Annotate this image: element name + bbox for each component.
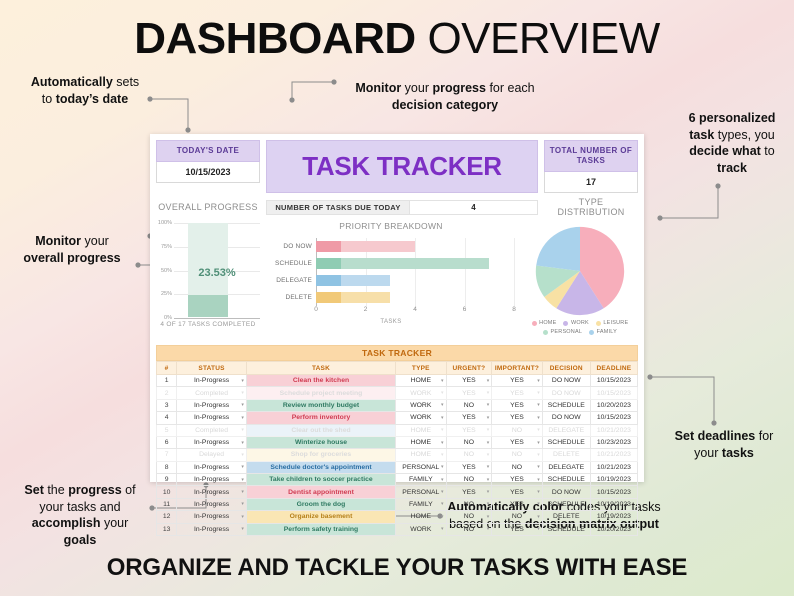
spreadsheet-dashboard: TODAY'S DATE 10/15/2023 TASK TRACKER TOT… [150, 134, 644, 482]
task-deadline-cell[interactable]: 10/15/2023 [590, 486, 637, 498]
pie-legend-swatch [563, 321, 568, 326]
task-decision-cell: DELETE [542, 449, 590, 461]
task-urgent-select[interactable]: NO [446, 436, 492, 448]
task-table-row[interactable]: 3In-ProgressReview monthly budgetWORKNOY… [157, 399, 638, 411]
task-type-select[interactable]: WORK [396, 523, 447, 535]
overall-progress-chart: 100%75%50%25%0% 23.53% 4 OF 17 TASKS COM… [156, 219, 260, 343]
task-important-select[interactable]: NO [492, 511, 543, 523]
progress-caption: 4 OF 17 TASKS COMPLETED [156, 321, 260, 328]
dashboard-subheader-row: OVERALL PROGRESS NUMBER OF TASKS DUE TOD… [150, 193, 644, 217]
task-table-header-cell: STATUS [177, 362, 247, 375]
priority-bar-cap [316, 292, 341, 303]
task-deadline-cell[interactable]: 10/21/2023 [590, 449, 637, 461]
progress-y-tick: 25% [161, 291, 172, 297]
task-table-row[interactable]: 7DelayedShop for groceriesHOMENONODELETE… [157, 449, 638, 461]
task-table-row[interactable]: 5CompletedClear out the shedHOMEYESNODEL… [157, 424, 638, 436]
pie-legend-item: PERSONAL [543, 329, 582, 335]
task-important-select[interactable]: NO [492, 461, 543, 473]
progress-plot: 100%75%50%25%0% 23.53% [156, 223, 260, 318]
task-type-select[interactable]: PERSONAL [396, 486, 447, 498]
task-status-select[interactable]: In-Progress [177, 436, 247, 448]
task-table-header-cell: TYPE [396, 362, 447, 375]
task-type-select[interactable]: FAMILY [396, 498, 447, 510]
task-urgent-select[interactable]: NO [446, 399, 492, 411]
task-name-cell[interactable]: Winterize house [246, 436, 395, 448]
task-name-cell[interactable]: Take children to soccer practice [246, 474, 395, 486]
priority-bar-label: SCHEDULE [264, 260, 316, 267]
task-urgent-select[interactable]: YES [446, 412, 492, 424]
priority-x-tick: 6 [463, 306, 467, 313]
pie-legend-label: PERSONAL [551, 329, 583, 335]
priority-x-ticks: 02468 [316, 306, 514, 316]
task-important-select[interactable]: YES [492, 375, 543, 387]
progress-y-tick: 75% [161, 244, 172, 250]
pie-legend-swatch [532, 321, 537, 326]
priority-bar-cap [316, 275, 341, 286]
task-tracker-title-card: TASK TRACKER [266, 140, 538, 193]
task-name-cell[interactable]: Groom the dog [246, 498, 395, 510]
task-deadline-cell[interactable]: 10/19/2023 [590, 498, 637, 510]
annotation-overall: Monitor your overall progress [16, 233, 128, 266]
task-deadline-cell[interactable]: 10/20/2023 [590, 523, 637, 535]
task-table-header-cell: URGENT? [446, 362, 492, 375]
task-table: #STATUSTASKTYPEURGENT?IMPORTANT?DECISION… [156, 361, 638, 536]
task-deadline-cell[interactable]: 10/21/2023 [590, 461, 637, 473]
annotation-today-date: Automatically sets to today’s date [26, 74, 144, 107]
task-important-select[interactable]: YES [492, 523, 543, 535]
task-row-number: 7 [157, 449, 177, 461]
task-table-row[interactable]: 8In-ProgressSchedule doctor's appointmen… [157, 461, 638, 473]
task-decision-cell: DO NOW [542, 412, 590, 424]
task-decision-cell: DELEGATE [542, 424, 590, 436]
task-row-number: 6 [157, 436, 177, 448]
todays-date-value[interactable]: 10/15/2023 [156, 162, 260, 183]
task-row-number: 3 [157, 399, 177, 411]
task-type-select[interactable]: WORK [396, 399, 447, 411]
pie-slice [536, 227, 580, 271]
task-deadline-cell[interactable]: 10/15/2023 [590, 375, 637, 387]
progress-percent-label: 23.53% [174, 267, 260, 279]
task-table-band: TASK TRACKER [156, 345, 638, 361]
task-important-select[interactable]: YES [492, 412, 543, 424]
page-title-bold: DASHBOARD [134, 14, 416, 63]
priority-bar-row: DO NOW [264, 238, 514, 255]
pie-legend-item: WORK [563, 320, 588, 326]
priority-bars: DO NOWSCHEDULEDELEGATEDELETE [264, 238, 514, 306]
task-table-header-cell: DEADLINE [590, 362, 637, 375]
task-status-select[interactable]: In-Progress [177, 523, 247, 535]
priority-bar-track [316, 258, 514, 269]
priority-bar-row: SCHEDULE [264, 255, 514, 272]
task-urgent-select[interactable]: NO [446, 449, 492, 461]
todays-date-label: TODAY'S DATE [156, 140, 260, 162]
progress-bar-fill [188, 295, 228, 317]
overall-progress-label: OVERALL PROGRESS [156, 202, 260, 212]
annotation-task-types: 6 personalized task types, you decide wh… [676, 110, 788, 176]
priority-x-tick: 8 [512, 306, 516, 313]
task-type-select[interactable]: HOME [396, 375, 447, 387]
task-urgent-select[interactable]: NO [446, 474, 492, 486]
pie-legend-swatch [543, 330, 548, 335]
task-row-number: 10 [157, 486, 177, 498]
task-important-select[interactable]: YES [492, 486, 543, 498]
task-urgent-select[interactable]: NO [446, 498, 492, 510]
task-row-number: 11 [157, 498, 177, 510]
pie-legend-item: HOME [532, 320, 557, 326]
pie-legend-swatch [596, 321, 601, 326]
task-table-header-cell: IMPORTANT? [492, 362, 543, 375]
task-table-row[interactable]: 9In-ProgressTake children to soccer prac… [157, 474, 638, 486]
task-deadline-cell[interactable]: 10/19/2023 [590, 511, 637, 523]
task-row-number: 8 [157, 461, 177, 473]
task-status-select[interactable]: In-Progress [177, 474, 247, 486]
priority-x-tick: 4 [413, 306, 417, 313]
task-urgent-select[interactable]: YES [446, 375, 492, 387]
page-title: DASHBOARD OVERVIEW [0, 14, 794, 64]
task-row-number: 12 [157, 511, 177, 523]
pie-legend-label: WORK [571, 320, 589, 326]
task-status-select[interactable]: Delayed [177, 449, 247, 461]
progress-y-tick: 0% [164, 315, 172, 321]
task-decision-cell: SCHEDULE [542, 399, 590, 411]
task-status-select[interactable]: In-Progress [177, 498, 247, 510]
task-table-wrap: TASK TRACKER #STATUSTASKTYPEURGENT?IMPOR… [150, 343, 644, 542]
todays-date-card: TODAY'S DATE 10/15/2023 [156, 140, 260, 193]
task-status-select[interactable]: In-Progress [177, 375, 247, 387]
task-status-select[interactable]: Completed [177, 424, 247, 436]
task-name-cell[interactable]: Schedule project meeting [246, 387, 395, 399]
task-type-select[interactable]: HOME [396, 436, 447, 448]
priority-bar-track [316, 292, 514, 303]
priority-bar-label: DELEGATE [264, 277, 316, 284]
task-decision-cell: DO NOW [542, 387, 590, 399]
task-deadline-cell[interactable]: 10/15/2023 [590, 412, 637, 424]
task-status-select[interactable]: In-Progress [177, 461, 247, 473]
task-type-select[interactable]: PERSONAL [396, 461, 447, 473]
task-table-header-cell: DECISION [542, 362, 590, 375]
task-table-header-cell: TASK [246, 362, 395, 375]
task-name-cell[interactable]: Clear out the shed [246, 424, 395, 436]
task-table-row[interactable]: 1In-ProgressClean the kitchenHOMEYESYESD… [157, 375, 638, 387]
priority-bar-fill [316, 258, 489, 269]
task-status-select[interactable]: In-Progress [177, 511, 247, 523]
type-distribution-chart: HOMEWORKLEISUREPERSONALFAMILY [522, 219, 638, 343]
priority-bar-row: DELEGATE [264, 272, 514, 289]
task-table-row[interactable]: 11In-ProgressGroom the dogFAMILYNOYESSCH… [157, 498, 638, 510]
task-important-select[interactable]: YES [492, 399, 543, 411]
task-row-number: 4 [157, 412, 177, 424]
priority-chart-title: PRIORITY BREAKDOWN [264, 221, 518, 231]
task-table-body: 1In-ProgressClean the kitchenHOMEYESYESD… [157, 375, 638, 536]
task-deadline-cell[interactable]: 10/21/2023 [590, 424, 637, 436]
task-name-cell[interactable]: Clean the kitchen [246, 375, 395, 387]
pie-wrap [522, 225, 638, 317]
pie-legend-item: LEISURE [596, 320, 628, 326]
progress-y-axis: 100%75%50%25%0% [156, 223, 174, 318]
task-type-select[interactable]: HOME [396, 511, 447, 523]
task-decision-cell: SCHEDULE [542, 523, 590, 535]
task-decision-cell: DELEGATE [542, 461, 590, 473]
task-type-select[interactable]: WORK [396, 387, 447, 399]
tasks-due-today-label: NUMBER OF TASKS DUE TODAY [266, 200, 410, 215]
task-deadline-cell[interactable]: 10/20/2023 [590, 399, 637, 411]
pie-legend-label: HOME [539, 320, 556, 326]
pie-legend-label: LEISURE [603, 320, 628, 326]
task-name-cell[interactable]: Perform safety training [246, 523, 395, 535]
task-decision-cell: SCHEDULE [542, 436, 590, 448]
task-name-cell[interactable]: Review monthly budget [246, 399, 395, 411]
task-status-select[interactable]: In-Progress [177, 412, 247, 424]
task-row-number: 2 [157, 387, 177, 399]
task-urgent-select[interactable]: YES [446, 461, 492, 473]
pie-legend-swatch [589, 330, 594, 335]
task-urgent-select[interactable]: YES [446, 486, 492, 498]
task-deadline-cell[interactable]: 10/23/2023 [590, 436, 637, 448]
task-type-select[interactable]: HOME [396, 424, 447, 436]
task-table-row[interactable]: 10In-ProgressDentist appointmentPERSONAL… [157, 486, 638, 498]
total-tasks-card: TOTAL NUMBER OF TASKS 17 [544, 140, 638, 193]
task-table-row[interactable]: 12In-ProgressOrganize basementHOMENONODE… [157, 511, 638, 523]
task-table-header-cell: # [157, 362, 177, 375]
task-important-select[interactable]: NO [492, 449, 543, 461]
task-deadline-cell[interactable]: 10/19/2023 [590, 474, 637, 486]
task-decision-cell: SCHEDULE [542, 474, 590, 486]
task-type-select[interactable]: FAMILY [396, 474, 447, 486]
task-name-cell[interactable]: Organize basement [246, 511, 395, 523]
task-row-number: 13 [157, 523, 177, 535]
task-important-select[interactable]: YES [492, 387, 543, 399]
priority-bar-row: DELETE [264, 289, 514, 306]
priority-bar-cap [316, 241, 341, 252]
task-important-select[interactable]: NO [492, 424, 543, 436]
type-distribution-label: TYPE DISTRIBUTION [544, 197, 638, 217]
pie-legend-item: FAMILY [589, 329, 617, 335]
priority-x-tick: 2 [364, 306, 368, 313]
page-footer: ORGANIZE AND TACKLE YOUR TASKS WITH EASE [0, 554, 794, 582]
task-name-cell[interactable]: Schedule doctor's appointment [246, 461, 395, 473]
task-status-select[interactable]: In-Progress [177, 486, 247, 498]
task-tracker-title: TASK TRACKER [302, 151, 502, 182]
progress-y-tick: 100% [158, 220, 172, 226]
priority-bar-track [316, 275, 514, 286]
task-urgent-select[interactable]: NO [446, 523, 492, 535]
task-name-cell[interactable]: Dentist appointment [246, 486, 395, 498]
annotation-priority: Monitor your progress for each decision … [330, 80, 560, 113]
priority-plot: DO NOWSCHEDULEDELEGATEDELETE 02468 [264, 234, 518, 320]
task-deadline-cell[interactable]: 10/15/2023 [590, 387, 637, 399]
task-urgent-select[interactable]: NO [446, 511, 492, 523]
task-row-number: 9 [157, 474, 177, 486]
dashboard-header-row: TODAY'S DATE 10/15/2023 TASK TRACKER TOT… [150, 134, 644, 193]
task-important-select[interactable]: YES [492, 474, 543, 486]
task-table-row[interactable]: 2CompletedSchedule project meetingWORKYE… [157, 387, 638, 399]
task-decision-cell: DO NOW [542, 375, 590, 387]
tasks-due-today-card: NUMBER OF TASKS DUE TODAY 4 [266, 200, 538, 215]
annotation-progress-set: Set the progress of your tasks and accom… [16, 482, 144, 548]
task-important-select[interactable]: YES [492, 498, 543, 510]
priority-x-tick: 0 [314, 306, 318, 313]
task-status-select[interactable]: In-Progress [177, 399, 247, 411]
task-urgent-select[interactable]: YES [446, 387, 492, 399]
task-decision-cell: SCHEDULE [542, 498, 590, 510]
task-table-row[interactable]: 4In-ProgressPerform inventoryWORKYESYESD… [157, 412, 638, 424]
annotation-deadlines: Set deadlines for your tasks [664, 428, 784, 461]
task-table-row[interactable]: 6In-ProgressWinterize houseHOMENOYESSCHE… [157, 436, 638, 448]
page-title-light: OVERVIEW [427, 14, 659, 63]
task-name-cell[interactable]: Shop for groceries [246, 449, 395, 461]
task-name-cell[interactable]: Perform inventory [246, 412, 395, 424]
priority-bar-label: DELETE [264, 294, 316, 301]
task-table-row[interactable]: 13In-ProgressPerform safety trainingWORK… [157, 523, 638, 535]
task-urgent-select[interactable]: YES [446, 424, 492, 436]
task-decision-cell: DELETE [542, 511, 590, 523]
task-type-select[interactable]: WORK [396, 412, 447, 424]
pie-legend: HOMEWORKLEISUREPERSONALFAMILY [522, 320, 638, 335]
priority-bar-cap [316, 258, 341, 269]
priority-bar-label: DO NOW [264, 243, 316, 250]
task-table-header-row: #STATUSTASKTYPEURGENT?IMPORTANT?DECISION… [157, 362, 638, 375]
priority-breakdown-chart: PRIORITY BREAKDOWN DO NOWSCHEDULEDELEGAT… [264, 219, 518, 343]
task-decision-cell: DO NOW [542, 486, 590, 498]
task-type-select[interactable]: HOME [396, 449, 447, 461]
task-row-number: 5 [157, 424, 177, 436]
total-tasks-value: 17 [544, 172, 638, 193]
charts-band: 100%75%50%25%0% 23.53% 4 OF 17 TASKS COM… [150, 217, 644, 343]
priority-bar-track [316, 241, 514, 252]
pie-chart [534, 225, 626, 317]
task-important-select[interactable]: YES [492, 436, 543, 448]
progress-y-tick: 50% [161, 268, 172, 274]
tasks-due-today-value: 4 [410, 200, 538, 215]
task-row-number: 1 [157, 375, 177, 387]
total-tasks-label: TOTAL NUMBER OF TASKS [544, 140, 638, 172]
pie-legend-label: FAMILY [597, 329, 617, 335]
task-status-select[interactable]: Completed [177, 387, 247, 399]
